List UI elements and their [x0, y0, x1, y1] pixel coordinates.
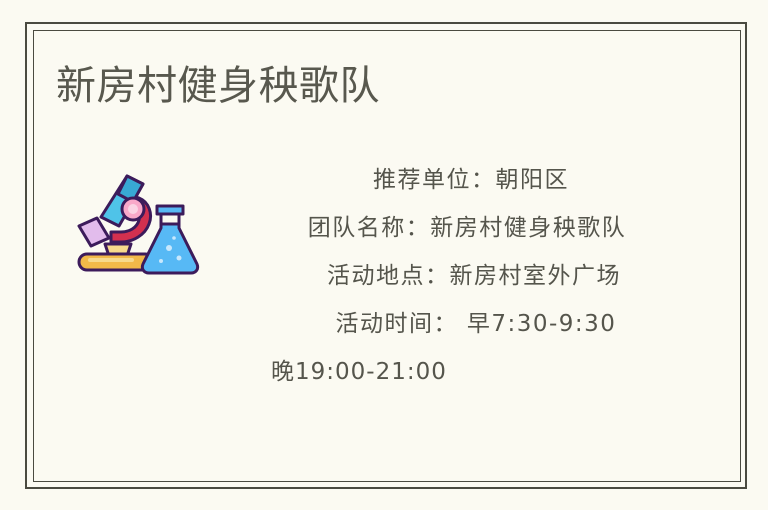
info-block: 推荐单位：朝阳区 团队名称：新房村健身秧歌队 活动地点：新房村室外广场 活动时间… [193, 156, 741, 396]
info-line-activity-time-morning: 活动时间： 早7:30-9:30 [193, 300, 741, 348]
content-row: 推荐单位：朝阳区 团队名称：新房村健身秧歌队 活动地点：新房村室外广场 活动时间… [33, 150, 741, 410]
info-line-activity-time-evening: 晚19:00-21:00 [193, 348, 741, 396]
microscope-flask-icon [61, 162, 201, 282]
info-line-team-name: 团队名称：新房村健身秧歌队 [193, 204, 741, 252]
info-card: 新房村健身秧歌队 [0, 0, 768, 510]
page-title: 新房村健身秧歌队 [56, 62, 380, 110]
info-line-activity-location: 活动地点：新房村室外广场 [193, 252, 741, 300]
info-line-recommending-unit: 推荐单位：朝阳区 [193, 156, 741, 204]
